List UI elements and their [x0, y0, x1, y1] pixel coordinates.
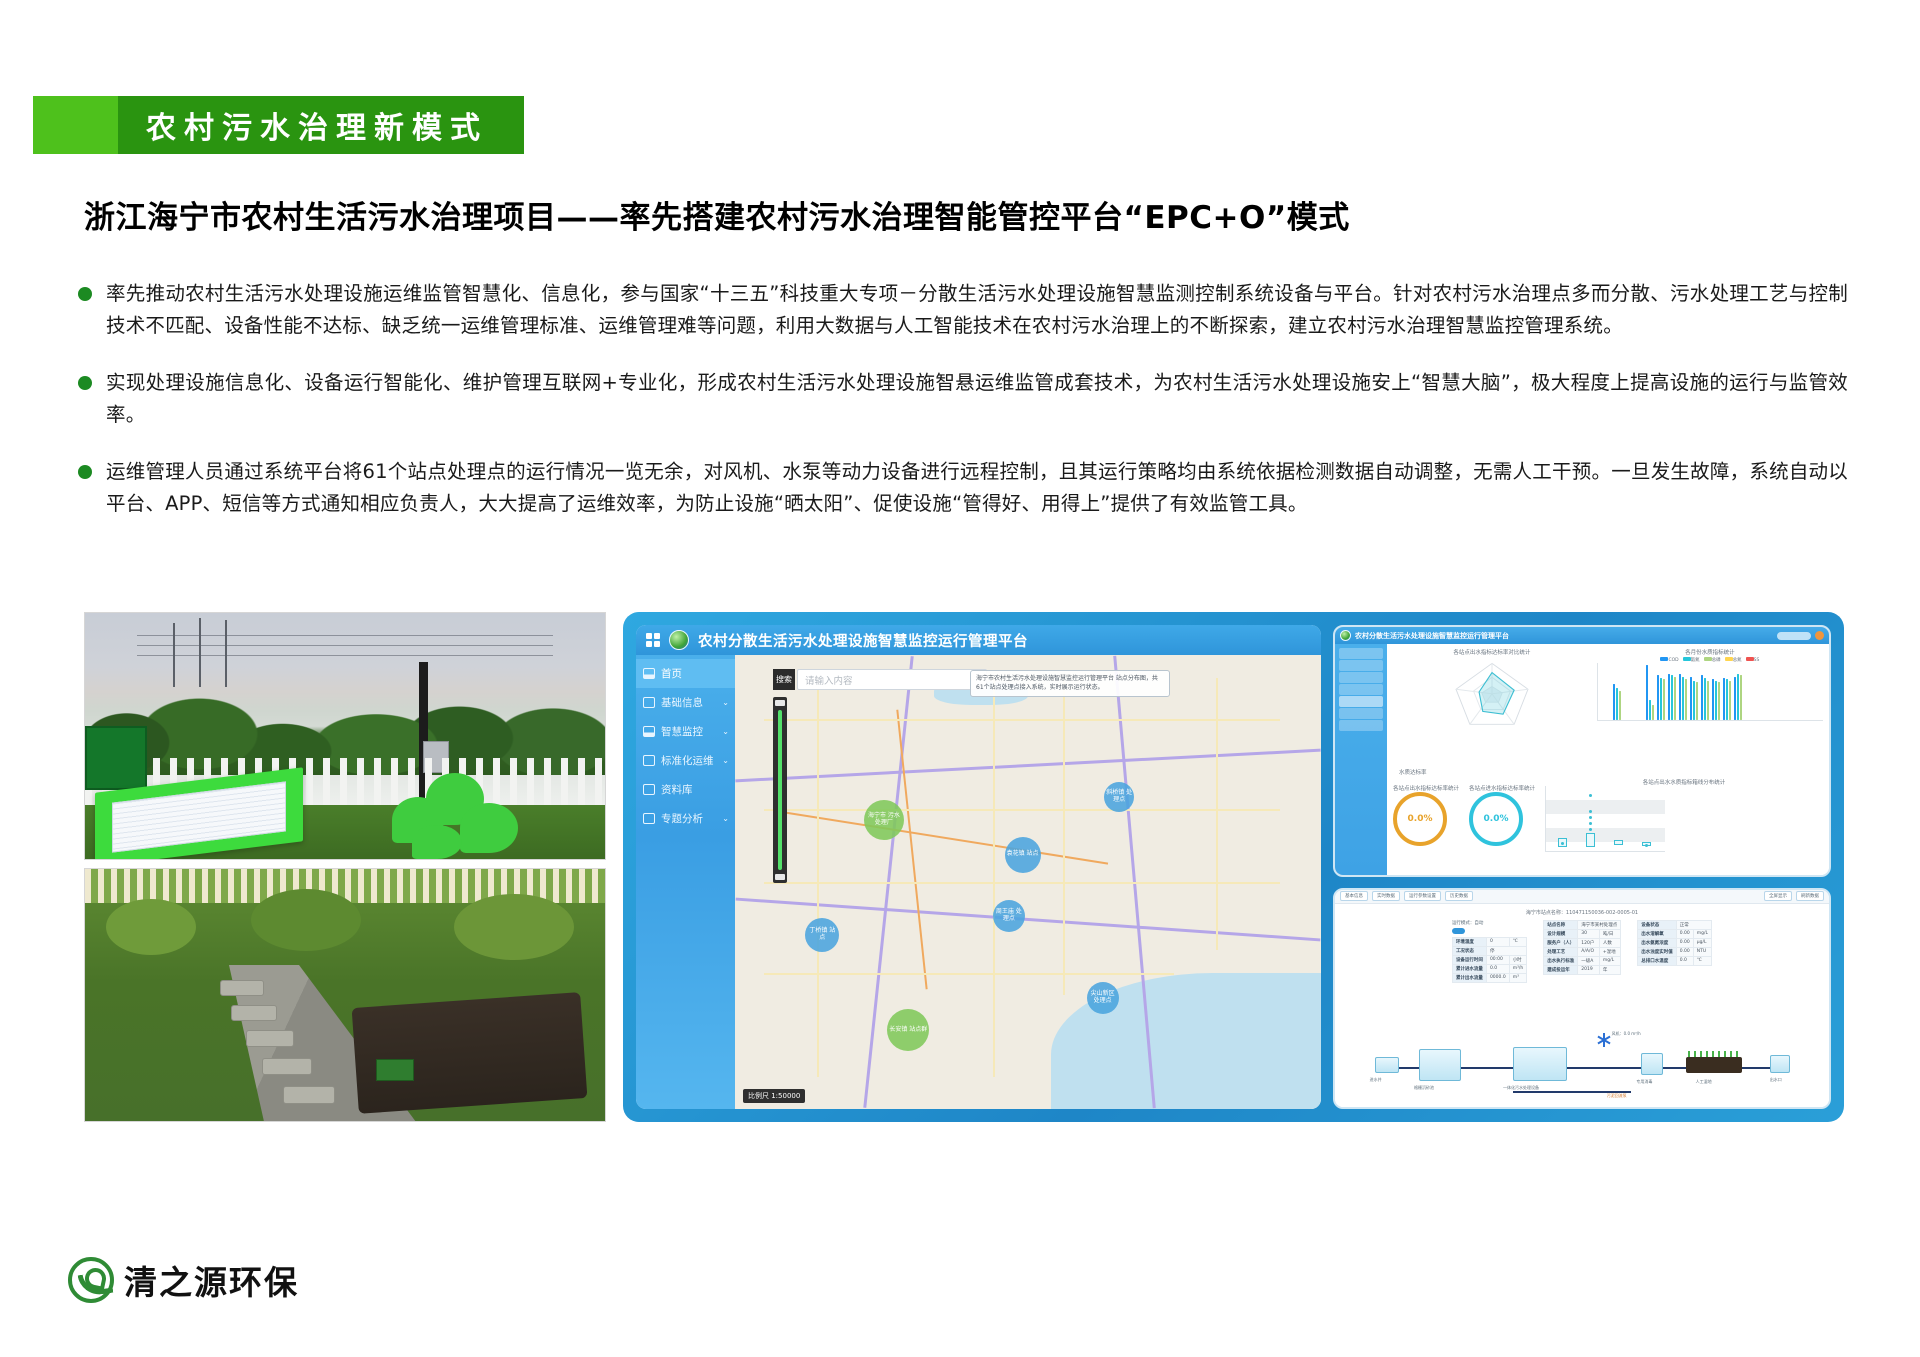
- bar: [1679, 674, 1681, 720]
- map-app-header: 农村分散生活污水处理设施智慧监控运行管理平台: [636, 625, 1321, 655]
- table-row: 站点名称海宁市某村处理点: [1544, 920, 1621, 929]
- shrub: [454, 894, 574, 960]
- process-station-title: 海宁市站点名称：110471150036-002-0005-01: [1343, 909, 1821, 916]
- bar: [1729, 681, 1731, 720]
- map-marker[interactable]: 周王庙 处理点: [993, 900, 1025, 932]
- zoom-in-knob[interactable]: [775, 700, 785, 706]
- dash-side-item[interactable]: [1339, 708, 1383, 719]
- bar: [1646, 665, 1648, 720]
- bar: [1682, 677, 1684, 720]
- disinfection-tank-node: [1641, 1053, 1663, 1075]
- map-info-tooltip: 海宁市农村生活污水处理设施智慧监控运行管理平台 站点分布图，共61个站点处理点接…: [970, 670, 1170, 697]
- gauge-inlet: 各站点进水指标达标率统计 0.0%: [1469, 784, 1535, 846]
- sidebar-item-smart-monitor[interactable]: 智慧监控 ⌄: [636, 717, 735, 746]
- bar: [1723, 678, 1725, 720]
- zoom-out-knob[interactable]: [775, 874, 785, 880]
- radar-chart-svg: [1444, 656, 1540, 728]
- bar-chart-title: 各月份水质指标统计: [1597, 648, 1823, 656]
- banner-accent-block: [33, 96, 118, 154]
- middle-data-table: 站点名称海宁市某村处理点 设计规模30吨/日 服务户（人）120户人数 处理工艺…: [1543, 920, 1621, 975]
- radar-chart-title: 各站点出水指标达标率对比统计: [1453, 648, 1530, 656]
- outlet-label: 出水口: [1770, 1077, 1782, 1083]
- process-table-right: 设备状态正常 出水溶解氧0.00mg/L 出水氨氮浓度0.00μg/L 出水浊度…: [1637, 920, 1712, 983]
- chart-icon: [643, 726, 655, 737]
- table-row: 总排口水温度0.0℃: [1638, 956, 1712, 965]
- banner-title-block: 农村污水治理新模式: [118, 96, 524, 154]
- folder-icon: [643, 784, 655, 795]
- bullet-dot-icon: [78, 465, 92, 479]
- dash-side-item[interactable]: [1339, 660, 1383, 671]
- bullet-text: 运维管理人员通过系统平台将61个站点处理点的运行情况一览无余，对风机、水泵等动力…: [106, 456, 1848, 519]
- run-mode-label: 运行模式：自动: [1452, 920, 1527, 926]
- table-row: 累计进水流量0.0m³/h: [1452, 964, 1526, 973]
- grit-chamber-label: 格栅沉砂池: [1414, 1085, 1434, 1091]
- gauge-title: 各站点进水指标达标率统计: [1469, 784, 1535, 792]
- bar: [1718, 682, 1720, 720]
- bar-group: [1734, 674, 1742, 720]
- table-row: 出水溶解氧0.00mg/L: [1638, 929, 1712, 938]
- sidebar-item-standard-ops[interactable]: 标准化运维 ⌄: [636, 746, 735, 775]
- map-marker[interactable]: 尖山新区 处理点: [1087, 982, 1119, 1014]
- sidebar-item-basic-info[interactable]: 基础信息 ⌄: [636, 688, 735, 717]
- boxplot-title: 各站点出水水质指标箱线分布统计: [1545, 778, 1823, 786]
- garden-signpost: [376, 1059, 414, 1081]
- process-table-row: 运行模式：自动 环境温度0℃ 工况状态停 设备运行时间00:00小时 累计进水流…: [1343, 920, 1821, 983]
- bar: [1690, 677, 1692, 720]
- dashboard-section-label: 水质达标率: [1399, 768, 1823, 776]
- bar-group: [1723, 678, 1731, 720]
- bar: [1726, 679, 1728, 720]
- dashboard-upper-charts: 各站点出水指标达标率对比统计: [1393, 648, 1823, 764]
- sidebar-item-library[interactable]: 资料库: [636, 775, 735, 804]
- radar-chart: 各站点出水指标达标率对比统计: [1393, 648, 1591, 764]
- dashboard-main: 各站点出水指标达标率对比统计: [1387, 644, 1829, 875]
- bar-group: [1613, 684, 1621, 720]
- bullet-list: 率先推动农村生活污水处理设施运维监管智慧化、信息化，参与国家“十三五”科技重大专…: [78, 278, 1848, 545]
- bar-chart-plot: [1597, 663, 1823, 721]
- poster-page: 农村污水治理新模式 浙江海宁市农村生活污水治理项目——率先搭建农村污水治理智能管…: [0, 0, 1920, 1357]
- info-board-poster: [112, 781, 287, 853]
- sidebar-item-topic-analysis[interactable]: 专题分析 ⌄: [636, 804, 735, 833]
- map-road: [764, 809, 1280, 811]
- bullet-item: 实现处理设施信息化、设备运行智能化、维护管理互联网+专业化，形成农村生活污水处理…: [78, 367, 1848, 430]
- map-marker[interactable]: 丁桥镇 站点: [805, 918, 839, 952]
- zoom-track[interactable]: [778, 710, 782, 870]
- bar-group: [1679, 674, 1687, 720]
- refresh-button[interactable]: 刷新数据: [1796, 891, 1824, 901]
- process-body: 海宁市站点名称：110471150036-002-0005-01 运行模式：自动…: [1335, 904, 1829, 1107]
- outlet-node: [1770, 1055, 1790, 1073]
- map-platform-screenshot: 农村分散生活污水处理设施智慧监控运行管理平台 首页 基础信息 ⌄: [636, 625, 1321, 1109]
- dashboard-body: 各站点出水指标达标率对比统计: [1335, 644, 1829, 875]
- dashboard-action-pill[interactable]: [1777, 632, 1811, 640]
- map-search-input[interactable]: 请输入内容: [797, 669, 987, 690]
- map-sidebar: 首页 基础信息 ⌄ 智慧监控 ⌄: [636, 655, 735, 1109]
- bar: [1704, 678, 1706, 720]
- tab-realtime-data[interactable]: 实时数据: [1372, 891, 1400, 901]
- run-mode-toggle[interactable]: [1452, 928, 1465, 934]
- process-flow-screenshot: 基本信息 实时数据 运行参数设置 历史数据 全屏显示 刷新数据 海宁市站点名称：…: [1333, 888, 1831, 1109]
- bar-group: [1668, 674, 1676, 720]
- dash-side-item[interactable]: [1339, 684, 1383, 695]
- dash-side-item-selected[interactable]: [1339, 696, 1383, 707]
- bar: [1715, 681, 1717, 720]
- site-photo-fence: [84, 612, 606, 860]
- map-scale-label: 比例尺 1:50000: [743, 1089, 805, 1103]
- process-table-middle: 站点名称海宁市某村处理点 设计规模30吨/日 服务户（人）120户人数 处理工艺…: [1543, 920, 1621, 983]
- table-row: 出水浊度实时值0.00NTU: [1638, 947, 1712, 956]
- bar: [1696, 682, 1698, 720]
- chevron-down-icon: ⌄: [722, 698, 729, 707]
- boxplot-chart: 各站点出水水质指标箱线分布统计: [1545, 778, 1823, 852]
- disinfection-label: 专用消毒: [1636, 1079, 1652, 1085]
- chevron-down-icon: ⌄: [722, 814, 729, 823]
- table-row: 出水氨氮浓度0.00μg/L: [1638, 938, 1712, 947]
- dash-side-item[interactable]: [1339, 720, 1383, 731]
- dash-side-item[interactable]: [1339, 672, 1383, 683]
- map-road: [764, 719, 1280, 721]
- bar: [1734, 677, 1736, 720]
- stone-slab: [246, 1030, 294, 1047]
- bar: [1619, 691, 1621, 720]
- bar: [1649, 700, 1651, 720]
- power-wire: [137, 645, 553, 646]
- bar: [1652, 705, 1654, 720]
- banner-title: 农村污水治理新模式: [146, 103, 488, 147]
- dashboard-title: 农村分散生活污水处理设施智慧监控运行管理平台: [1355, 631, 1509, 641]
- map-app-body: 首页 基础信息 ⌄ 智慧监控 ⌄: [636, 655, 1321, 1109]
- bar-group: [1657, 675, 1665, 720]
- map-road: [784, 811, 1108, 864]
- table-row: 设备状态正常: [1638, 920, 1712, 929]
- media-strip: 农村分散生活污水处理设施智慧监控运行管理平台 首页 基础信息 ⌄: [84, 612, 1844, 1122]
- bar: [1668, 674, 1670, 720]
- sidebar-label: 基础信息: [661, 695, 703, 710]
- fullscreen-button[interactable]: 全屏显示: [1764, 891, 1792, 901]
- bar-group: [1690, 677, 1698, 720]
- stone-slab: [262, 1058, 312, 1075]
- tab-run-params[interactable]: 运行参数设置: [1404, 891, 1441, 901]
- tab-basic-info[interactable]: 基本信息: [1340, 891, 1368, 901]
- map-road: [1063, 678, 1065, 996]
- map-app-title: 农村分散生活污水处理设施智慧监控运行管理平台: [698, 630, 1028, 651]
- grid-icon: [643, 813, 655, 824]
- page-title: 浙江海宁市农村生活污水治理项目——率先搭建农村污水治理智能管控平台“EPC+O”…: [84, 192, 1844, 237]
- company-name: 清之源环保: [124, 1256, 299, 1304]
- process-table-left: 运行模式：自动 环境温度0℃ 工况状态停 设备运行时间00:00小时 累计进水流…: [1452, 920, 1527, 983]
- constructed-wetland-node: [1686, 1057, 1742, 1073]
- bar: [1616, 688, 1618, 720]
- table-row: 工况状态停: [1452, 946, 1526, 955]
- shrub: [106, 899, 196, 955]
- dashboard-column: 农村分散生活污水处理设施智慧监控运行管理平台: [1333, 625, 1831, 1109]
- bar: [1712, 679, 1714, 720]
- dashboard-lower-charts: 各站点出水指标达标率统计 0.0% 各站点进水指标达标率统计 0.0% 各站点出…: [1393, 778, 1823, 852]
- dashboard-sidebar[interactable]: [1335, 644, 1387, 875]
- bar: [1613, 684, 1615, 720]
- chevron-down-icon: ⌄: [722, 727, 729, 736]
- map-marker[interactable]: 海宁市 污水处理厂: [864, 800, 904, 840]
- bar: [1660, 678, 1662, 720]
- stone-slab: [231, 1005, 277, 1021]
- avatar[interactable]: [1815, 631, 1824, 640]
- grit-chamber-node: [1419, 1049, 1461, 1081]
- map-road: [993, 678, 995, 1078]
- bullet-dot-icon: [78, 287, 92, 301]
- bar: [1693, 681, 1695, 720]
- map-road: [1216, 678, 1218, 950]
- left-data-table: 环境温度0℃ 工况状态停 设备运行时间00:00小时 累计进水流量0.0m³/h…: [1452, 937, 1527, 983]
- lotus-leaf-sculpture: [382, 763, 532, 859]
- bar: [1663, 679, 1665, 720]
- bar: [1685, 679, 1687, 720]
- stone-slab: [283, 1086, 335, 1104]
- map-search-button[interactable]: 搜索: [773, 669, 795, 690]
- table-row: 服务户（人）120户人数: [1544, 938, 1621, 947]
- process-toolbar: 基本信息 实时数据 运行参数设置 历史数据 全屏显示 刷新数据: [1335, 890, 1829, 904]
- integrated-unit-node: [1513, 1047, 1567, 1081]
- sidebar-label: 资料库: [661, 782, 693, 797]
- menu-grid-icon[interactable]: [646, 633, 660, 647]
- bar: [1674, 677, 1676, 720]
- sidebar-label: 智慧监控: [661, 724, 703, 739]
- table-row: 设计规模30吨/日: [1544, 929, 1621, 938]
- footer-logo: 清之源环保: [68, 1256, 299, 1304]
- mulch-bed: [352, 992, 588, 1114]
- table-row: 出水执行标准一级Amg/L: [1544, 956, 1621, 965]
- sidebar-label: 首页: [661, 666, 682, 681]
- boxplot-plot: [1545, 786, 1665, 852]
- green-notice-board: [85, 726, 147, 790]
- dashboard-header: 农村分散生活污水处理设施智慧监控运行管理平台: [1335, 627, 1829, 644]
- section-banner: 农村污水治理新模式: [33, 96, 524, 154]
- inlet-well-label: 进水井: [1370, 1077, 1382, 1083]
- bar: [1657, 675, 1659, 720]
- sidebar-item-home[interactable]: 首页: [636, 659, 735, 688]
- wetland-label: 人工湿地: [1696, 1079, 1712, 1085]
- bar-chart: 各月份水质指标统计 COD 氨氮 总磷 总氮 SS: [1597, 648, 1823, 764]
- map-marker[interactable]: 长安镇 站点群: [887, 1009, 929, 1051]
- map-road: [896, 710, 927, 990]
- monitor-icon: [643, 697, 655, 708]
- chevron-down-icon: ⌄: [722, 756, 729, 765]
- bullet-item: 率先推动农村生活污水处理设施运维监管智慧化、信息化，参与国家“十三五”科技重大专…: [78, 278, 1848, 341]
- bar-group: [1701, 675, 1709, 720]
- map-marker[interactable]: 斜桥镇 处理点: [1104, 782, 1134, 812]
- table-row: 设备运行时间00:00小时: [1452, 955, 1526, 964]
- sidebar-label: 标准化运维: [661, 753, 714, 768]
- software-screenshot-frame: 农村分散生活污水处理设施智慧监控运行管理平台 首页 基础信息 ⌄: [623, 612, 1844, 1122]
- map-road: [764, 882, 1280, 884]
- gauge-title: 各站点出水指标达标率统计: [1393, 784, 1459, 792]
- sidebar-label: 专题分析: [661, 811, 703, 826]
- process-flow-diagram: 进水井 格栅沉砂池 一体化污水处理设备 风机：0.0 m³/h 专用消毒: [1335, 1027, 1829, 1101]
- globe-logo-icon: [669, 630, 689, 650]
- home-icon: [643, 668, 655, 679]
- device-icon: [643, 755, 655, 766]
- bullet-dot-icon: [78, 376, 92, 390]
- globe-logo-icon: [1340, 630, 1351, 641]
- analytics-dashboard-screenshot: 农村分散生活污水处理设施智慧监控运行管理平台: [1333, 625, 1831, 877]
- bar-group: [1646, 665, 1654, 720]
- map-canvas[interactable]: 海宁市 污水处理厂 袁花镇 站点 周王庙 处理点 丁桥镇 站点 斜桥镇 处理点 …: [735, 655, 1321, 1109]
- photo-column: [84, 612, 606, 1122]
- gauge-value: 0.0%: [1469, 792, 1523, 846]
- bar: [1740, 675, 1742, 720]
- gauge-value: 0.0%: [1393, 792, 1447, 846]
- map-road: [817, 678, 819, 1078]
- inlet-well-node: [1375, 1057, 1399, 1073]
- bar-group: [1712, 679, 1720, 720]
- dash-side-item[interactable]: [1339, 648, 1383, 659]
- bar: [1707, 681, 1709, 720]
- bar: [1701, 675, 1703, 720]
- table-row: 累计出水流量0000.0m³: [1452, 973, 1526, 982]
- shrub: [251, 889, 361, 951]
- sludge-pump-label: 污泥回流泵: [1607, 1093, 1627, 1099]
- tab-history-data[interactable]: 历史数据: [1445, 891, 1473, 901]
- blower-icon: [1597, 1033, 1611, 1047]
- bullet-item: 运维管理人员通过系统平台将61个站点处理点的运行情况一览无余，对风机、水泵等动力…: [78, 456, 1848, 519]
- map-road: [764, 973, 1174, 975]
- map-zoom-slider[interactable]: [773, 697, 787, 883]
- right-data-table: 设备状态正常 出水溶解氧0.00mg/L 出水氨氮浓度0.00μg/L 出水浊度…: [1637, 920, 1712, 966]
- site-photo-garden: [84, 868, 606, 1122]
- blower-annotation: 风机：0.0 m³/h: [1612, 1031, 1641, 1037]
- map-marker[interactable]: 袁花镇 站点: [1005, 837, 1041, 873]
- power-wire: [137, 635, 553, 636]
- bar: [1737, 674, 1739, 720]
- bullet-text: 实现处理设施信息化、设备运行智能化、维护管理互联网+专业化，形成农村生活污水处理…: [106, 367, 1848, 430]
- company-logo-icon: [68, 1257, 114, 1303]
- map-road: [735, 749, 1320, 783]
- table-row: 处理工艺A/A/O+湿地: [1544, 947, 1621, 956]
- gauge-outlet: 各站点出水指标达标率统计 0.0%: [1393, 784, 1459, 846]
- bullet-text: 率先推动农村生活污水处理设施运维监管智慧化、信息化，参与国家“十三五”科技重大专…: [106, 278, 1848, 341]
- table-row: 建成投运年2019年: [1544, 965, 1621, 974]
- bar: [1671, 675, 1673, 720]
- power-wire: [137, 655, 553, 656]
- stone-slab: [220, 980, 264, 996]
- table-row: 环境温度0℃: [1452, 937, 1526, 946]
